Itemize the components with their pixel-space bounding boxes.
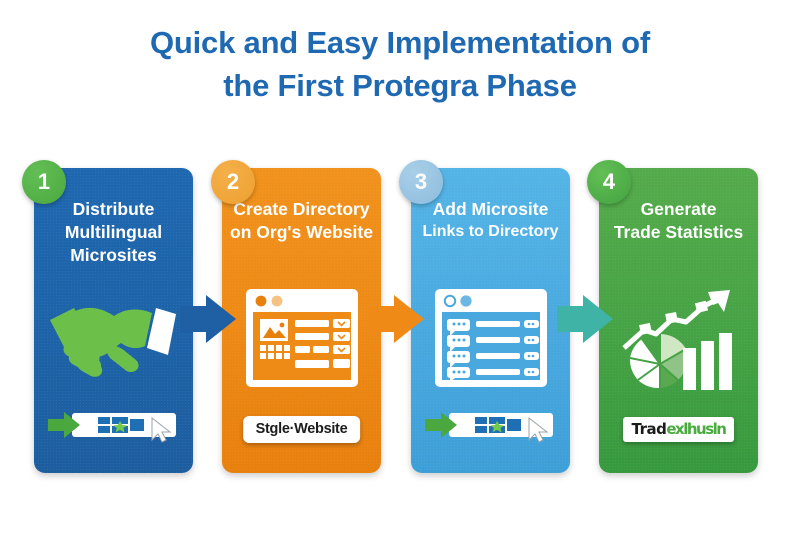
browser-list-icon bbox=[411, 286, 570, 390]
step-card-3-title-line-1: Add Microsite bbox=[417, 198, 564, 221]
microsite-tiles-bar-1[interactable] bbox=[46, 407, 181, 441]
step-card-4-title-line-1: Generate bbox=[605, 198, 752, 221]
step-card-2-title-line-2: on Org's Website bbox=[228, 221, 375, 244]
infographic-canvas: Quick and Easy Implementation of the Fir… bbox=[0, 0, 800, 533]
arrow-step1-to-step2 bbox=[180, 293, 236, 345]
step-card-4-title-line-2: Trade Statistics bbox=[605, 221, 752, 244]
step-card-1[interactable]: Distribute Multilingual Microsites bbox=[34, 168, 193, 473]
step-card-1-title-line-1: Distribute bbox=[40, 198, 187, 221]
page-title-line-2: the First Protegra Phase bbox=[0, 65, 800, 108]
step-card-4[interactable]: Generate Trade Statistics bbox=[599, 168, 758, 473]
handshake-icon bbox=[34, 286, 193, 378]
step-card-2-title: Create Directory on Org's Website bbox=[228, 198, 375, 244]
trade-logo-prefix: Trad bbox=[632, 420, 667, 438]
page-title-line-1: Quick and Easy Implementation of bbox=[0, 22, 800, 65]
step-badge-4: 4 bbox=[587, 160, 631, 204]
browser-form-icon bbox=[222, 286, 381, 390]
arrow-step3-to-step4 bbox=[557, 293, 613, 345]
charts-growth-icon bbox=[599, 286, 758, 392]
website-chip-label[interactable]: Stgle·Website bbox=[243, 416, 361, 443]
trade-logo-suffix: exlhusln bbox=[666, 420, 725, 438]
step-card-2[interactable]: Create Directory on Org's Website bbox=[222, 168, 381, 473]
step-card-3-title: Add Microsite Links to Directory bbox=[417, 198, 564, 242]
microsite-tiles-bar-3[interactable] bbox=[423, 407, 558, 441]
step-card-1-title-line-2: Multilingual bbox=[40, 221, 187, 244]
trade-logo-chip[interactable]: Tradexlhusln bbox=[623, 417, 735, 442]
step-card-4-title: Generate Trade Statistics bbox=[605, 198, 752, 244]
step-card-1-title: Distribute Multilingual Microsites bbox=[40, 198, 187, 267]
step-card-3[interactable]: Add Microsite Links to Directory bbox=[411, 168, 570, 473]
step-card-2-title-line-1: Create Directory bbox=[228, 198, 375, 221]
arrow-step2-to-step3 bbox=[368, 293, 424, 345]
page-title: Quick and Easy Implementation of the Fir… bbox=[0, 22, 800, 108]
step-badge-1: 1 bbox=[22, 160, 66, 204]
step-card-3-title-line-2: Links to Directory bbox=[417, 221, 564, 242]
step-badge-2: 2 bbox=[211, 160, 255, 204]
step-badge-3: 3 bbox=[399, 160, 443, 204]
step-card-1-title-line-3: Microsites bbox=[40, 244, 187, 267]
